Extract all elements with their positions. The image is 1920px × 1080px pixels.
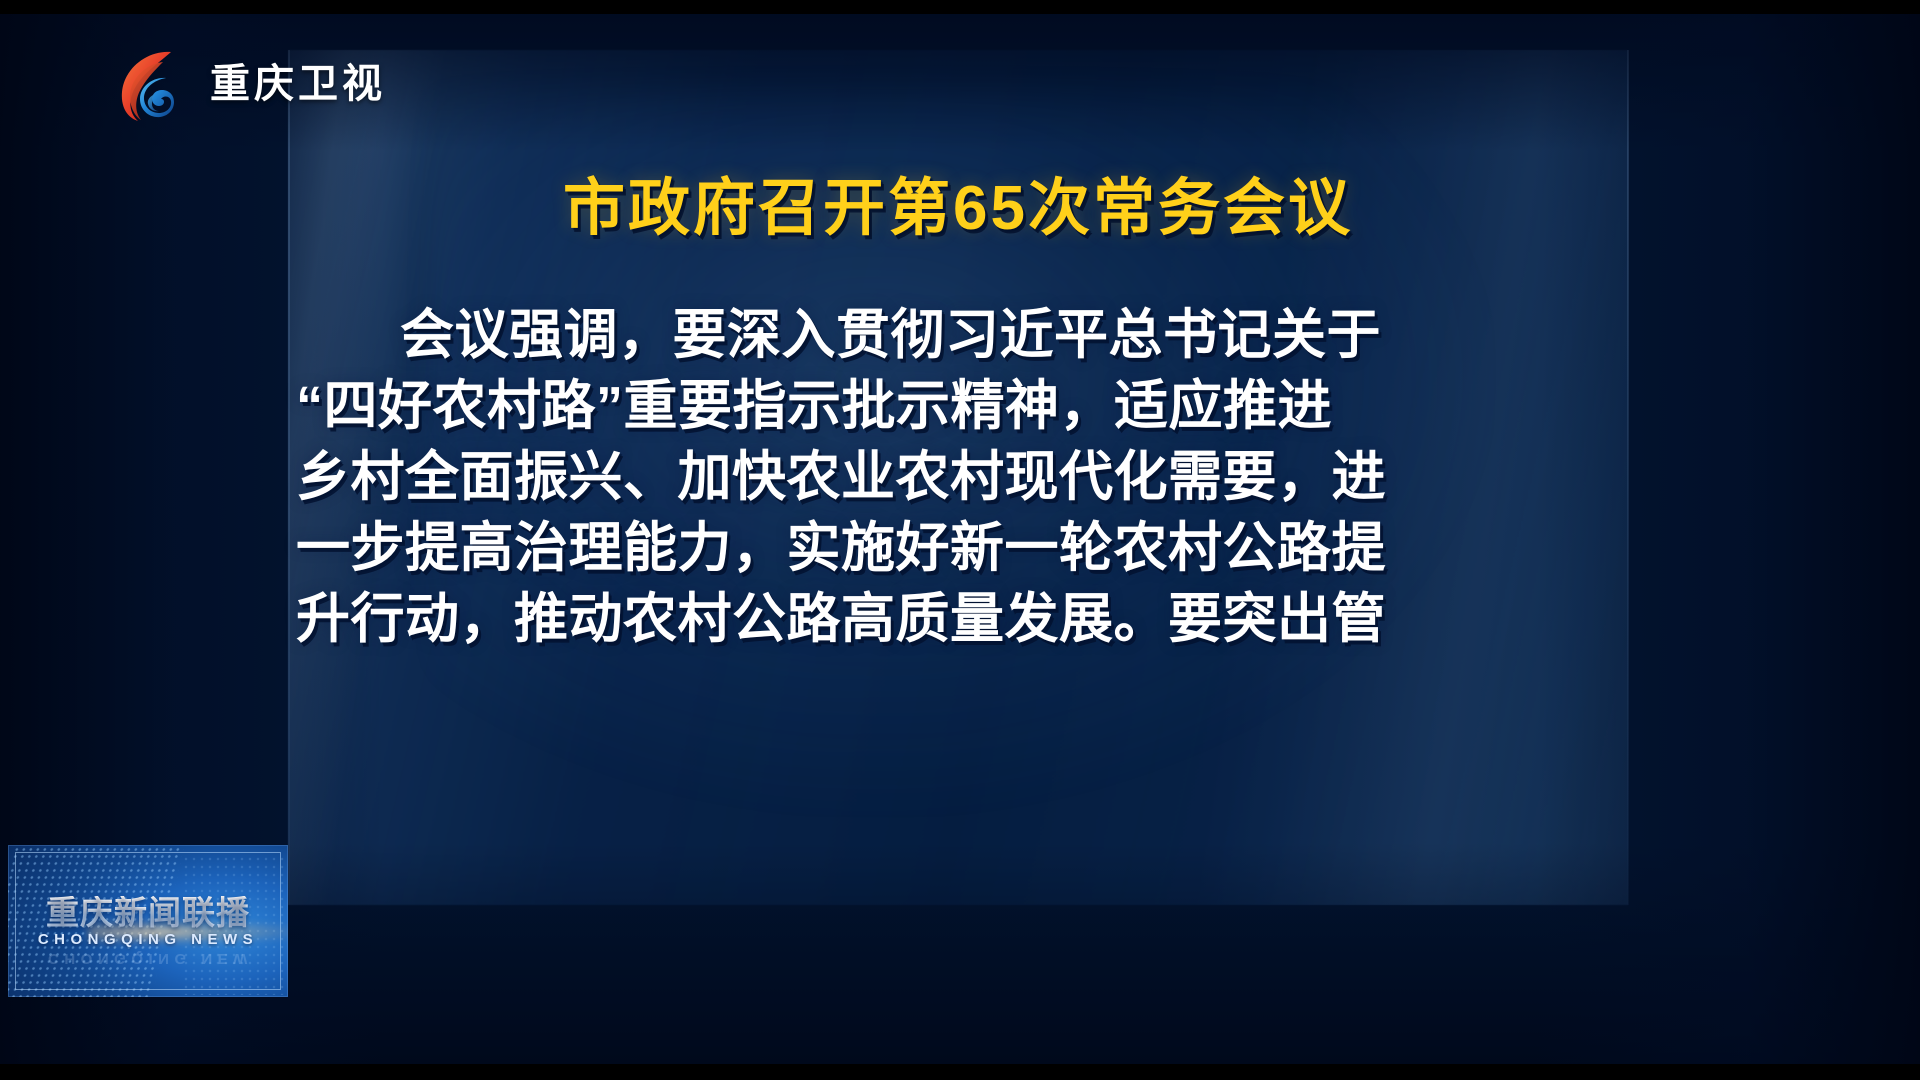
channel-logo: 重庆卫视 bbox=[108, 42, 386, 126]
program-branding-card: 重庆新闻联播 CHONGQING NEWS CHONGQING NEWS bbox=[8, 845, 288, 997]
body-line: 一步提高治理能力，实施好新一轮农村公路提 bbox=[296, 513, 1296, 584]
letterbox-top bbox=[0, 0, 1920, 14]
body-line: “四好农村路”重要指示批示精神，适应推进 bbox=[296, 371, 1296, 442]
broadcast-screen: 重庆卫视 市政府召开第65次常务会议 会议强调，要深入贯彻习近平总书记关于 “四… bbox=[0, 0, 1920, 1080]
body-line: 会议强调，要深入贯彻习近平总书记关于 bbox=[296, 300, 1296, 371]
card-border-frame bbox=[15, 852, 281, 990]
body-copy-block: 会议强调，要深入贯彻习近平总书记关于 “四好农村路”重要指示批示精神，适应推进 … bbox=[296, 300, 1296, 655]
headline-title: 市政府召开第65次常务会议 bbox=[288, 176, 1628, 243]
body-line: 乡村全面振兴、加快农业农村现代化需要，进 bbox=[296, 442, 1296, 513]
letterbox-bottom bbox=[0, 1064, 1920, 1080]
body-line: 升行动，推动农村公路高质量发展。要突出管 bbox=[296, 584, 1296, 655]
chongqing-tv-swoosh-icon bbox=[108, 42, 192, 126]
channel-name-label: 重庆卫视 bbox=[210, 64, 386, 104]
